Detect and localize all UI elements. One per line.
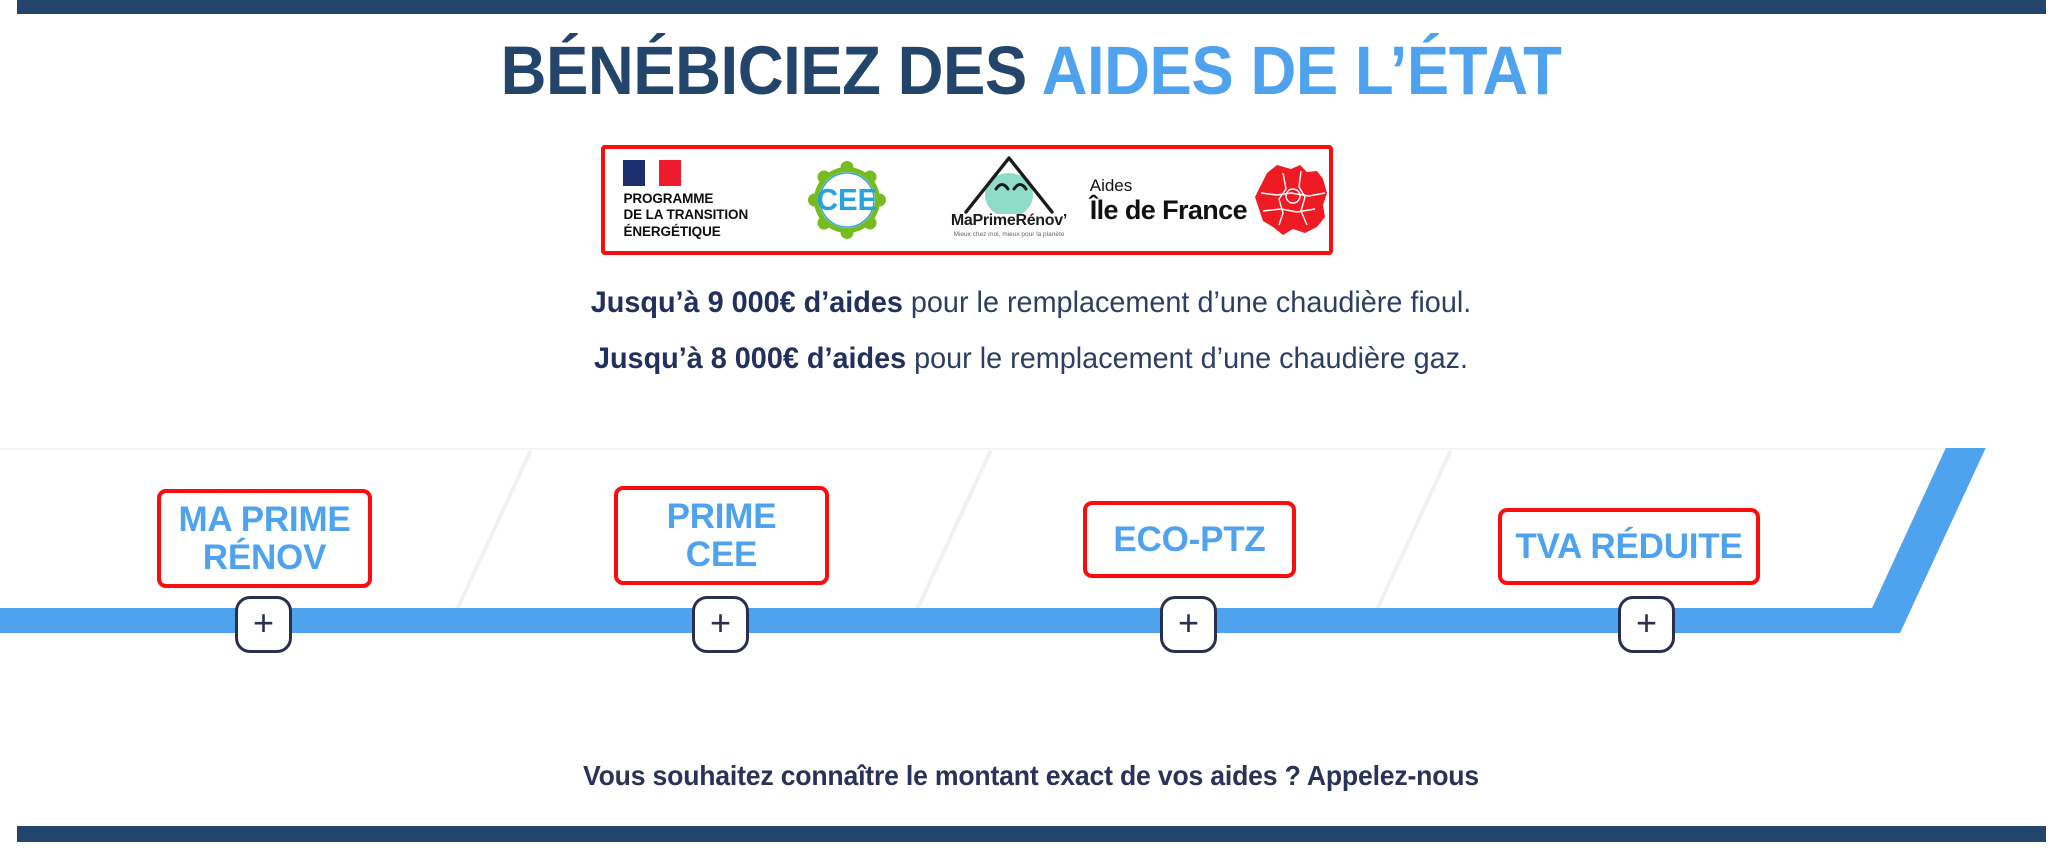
aides-etat-section: BÉNÉBICIEZ DES AIDES DE L’ÉTAT PROGRAMME…: [0, 0, 2062, 854]
aid-line-gaz: Jusqu’à 8 000€ d’aides pour le remplacem…: [41, 342, 2021, 376]
aid-line-gaz-rest: pour le remplacement d’une chaudière gaz…: [906, 342, 1468, 375]
maprimerenov-label: MaPrimeRénov’: [934, 212, 1084, 230]
logo-programme-text: PROGRAMME DE LA TRANSITION ÉNERGÉTIQUE: [623, 191, 748, 240]
idf-label-aides: Aides: [1090, 177, 1247, 194]
french-flag-icon: [623, 160, 681, 186]
top-divider-bar: [17, 0, 2046, 14]
page-title-dark-part: BÉNÉBICIEZ DES: [501, 32, 1042, 109]
ile-de-france-map-icon: [1253, 163, 1329, 237]
cee-label: CEE: [810, 161, 884, 239]
logo-programme-line-1: PROGRAMME: [623, 191, 748, 207]
logo-maprimerenov: MaPrimeRénov’ Mieux chez moi, mieux pour…: [928, 149, 1090, 251]
aid-card-ma-prime-renov[interactable]: MA PRIME RÉNOV: [157, 489, 372, 588]
page-title: BÉNÉBICIEZ DES AIDES DE L’ÉTAT: [82, 36, 1979, 105]
aid-card-eco-ptz[interactable]: ECO-PTZ: [1083, 501, 1296, 578]
expand-button-prime-cee[interactable]: +: [692, 596, 749, 653]
aid-line-fioul: Jusqu’à 9 000€ d’aides pour le remplacem…: [41, 286, 2021, 320]
partner-logo-strip: PROGRAMME DE LA TRANSITION ÉNERGÉTIQUE: [601, 145, 1333, 255]
plus-icon: +: [253, 605, 274, 641]
aid-line-gaz-amount: Jusqu’à 8 000€ d’aides: [594, 342, 906, 375]
aids-card-row: MA PRIME RÉNOV PRIME CEE ECO-PTZ TVA RÉD…: [0, 483, 2062, 603]
logo-programme-line-3: ÉNERGÉTIQUE: [623, 224, 748, 240]
expand-button-eco-ptz[interactable]: +: [1160, 596, 1217, 653]
idf-label-region: Île de France: [1090, 197, 1247, 224]
aid-card-tva-reduite[interactable]: TVA RÉDUITE: [1498, 508, 1760, 585]
call-to-action-text: Vous souhaitez connaître le montant exac…: [52, 760, 2011, 792]
expand-button-ma-prime-renov[interactable]: +: [235, 596, 292, 653]
aid-line-fioul-amount: Jusqu’à 9 000€ d’aides: [591, 286, 903, 319]
aid-line-fioul-rest: pour le remplacement d’une chaudière fio…: [903, 286, 1471, 319]
bottom-divider-bar: [17, 826, 2046, 842]
plus-icon: +: [1178, 605, 1199, 641]
aid-card-prime-cee[interactable]: PRIME CEE: [614, 486, 829, 585]
plus-icon: +: [1636, 605, 1657, 641]
logo-cee: CEE: [767, 149, 929, 251]
maprimerenov-house-icon: [956, 152, 1062, 214]
maprimerenov-tagline: Mieux chez moi, mieux pour la planète: [934, 231, 1084, 238]
plus-icon: +: [710, 605, 731, 641]
logo-programme-transition-energetique: PROGRAMME DE LA TRANSITION ÉNERGÉTIQUE: [605, 149, 767, 251]
page-title-light-part: AIDES DE L’ÉTAT: [1042, 32, 1562, 109]
logo-programme-line-2: DE LA TRANSITION: [623, 207, 748, 223]
expand-button-tva-reduite[interactable]: +: [1618, 596, 1675, 653]
logo-aides-ile-de-france: Aides Île de France: [1090, 149, 1329, 251]
